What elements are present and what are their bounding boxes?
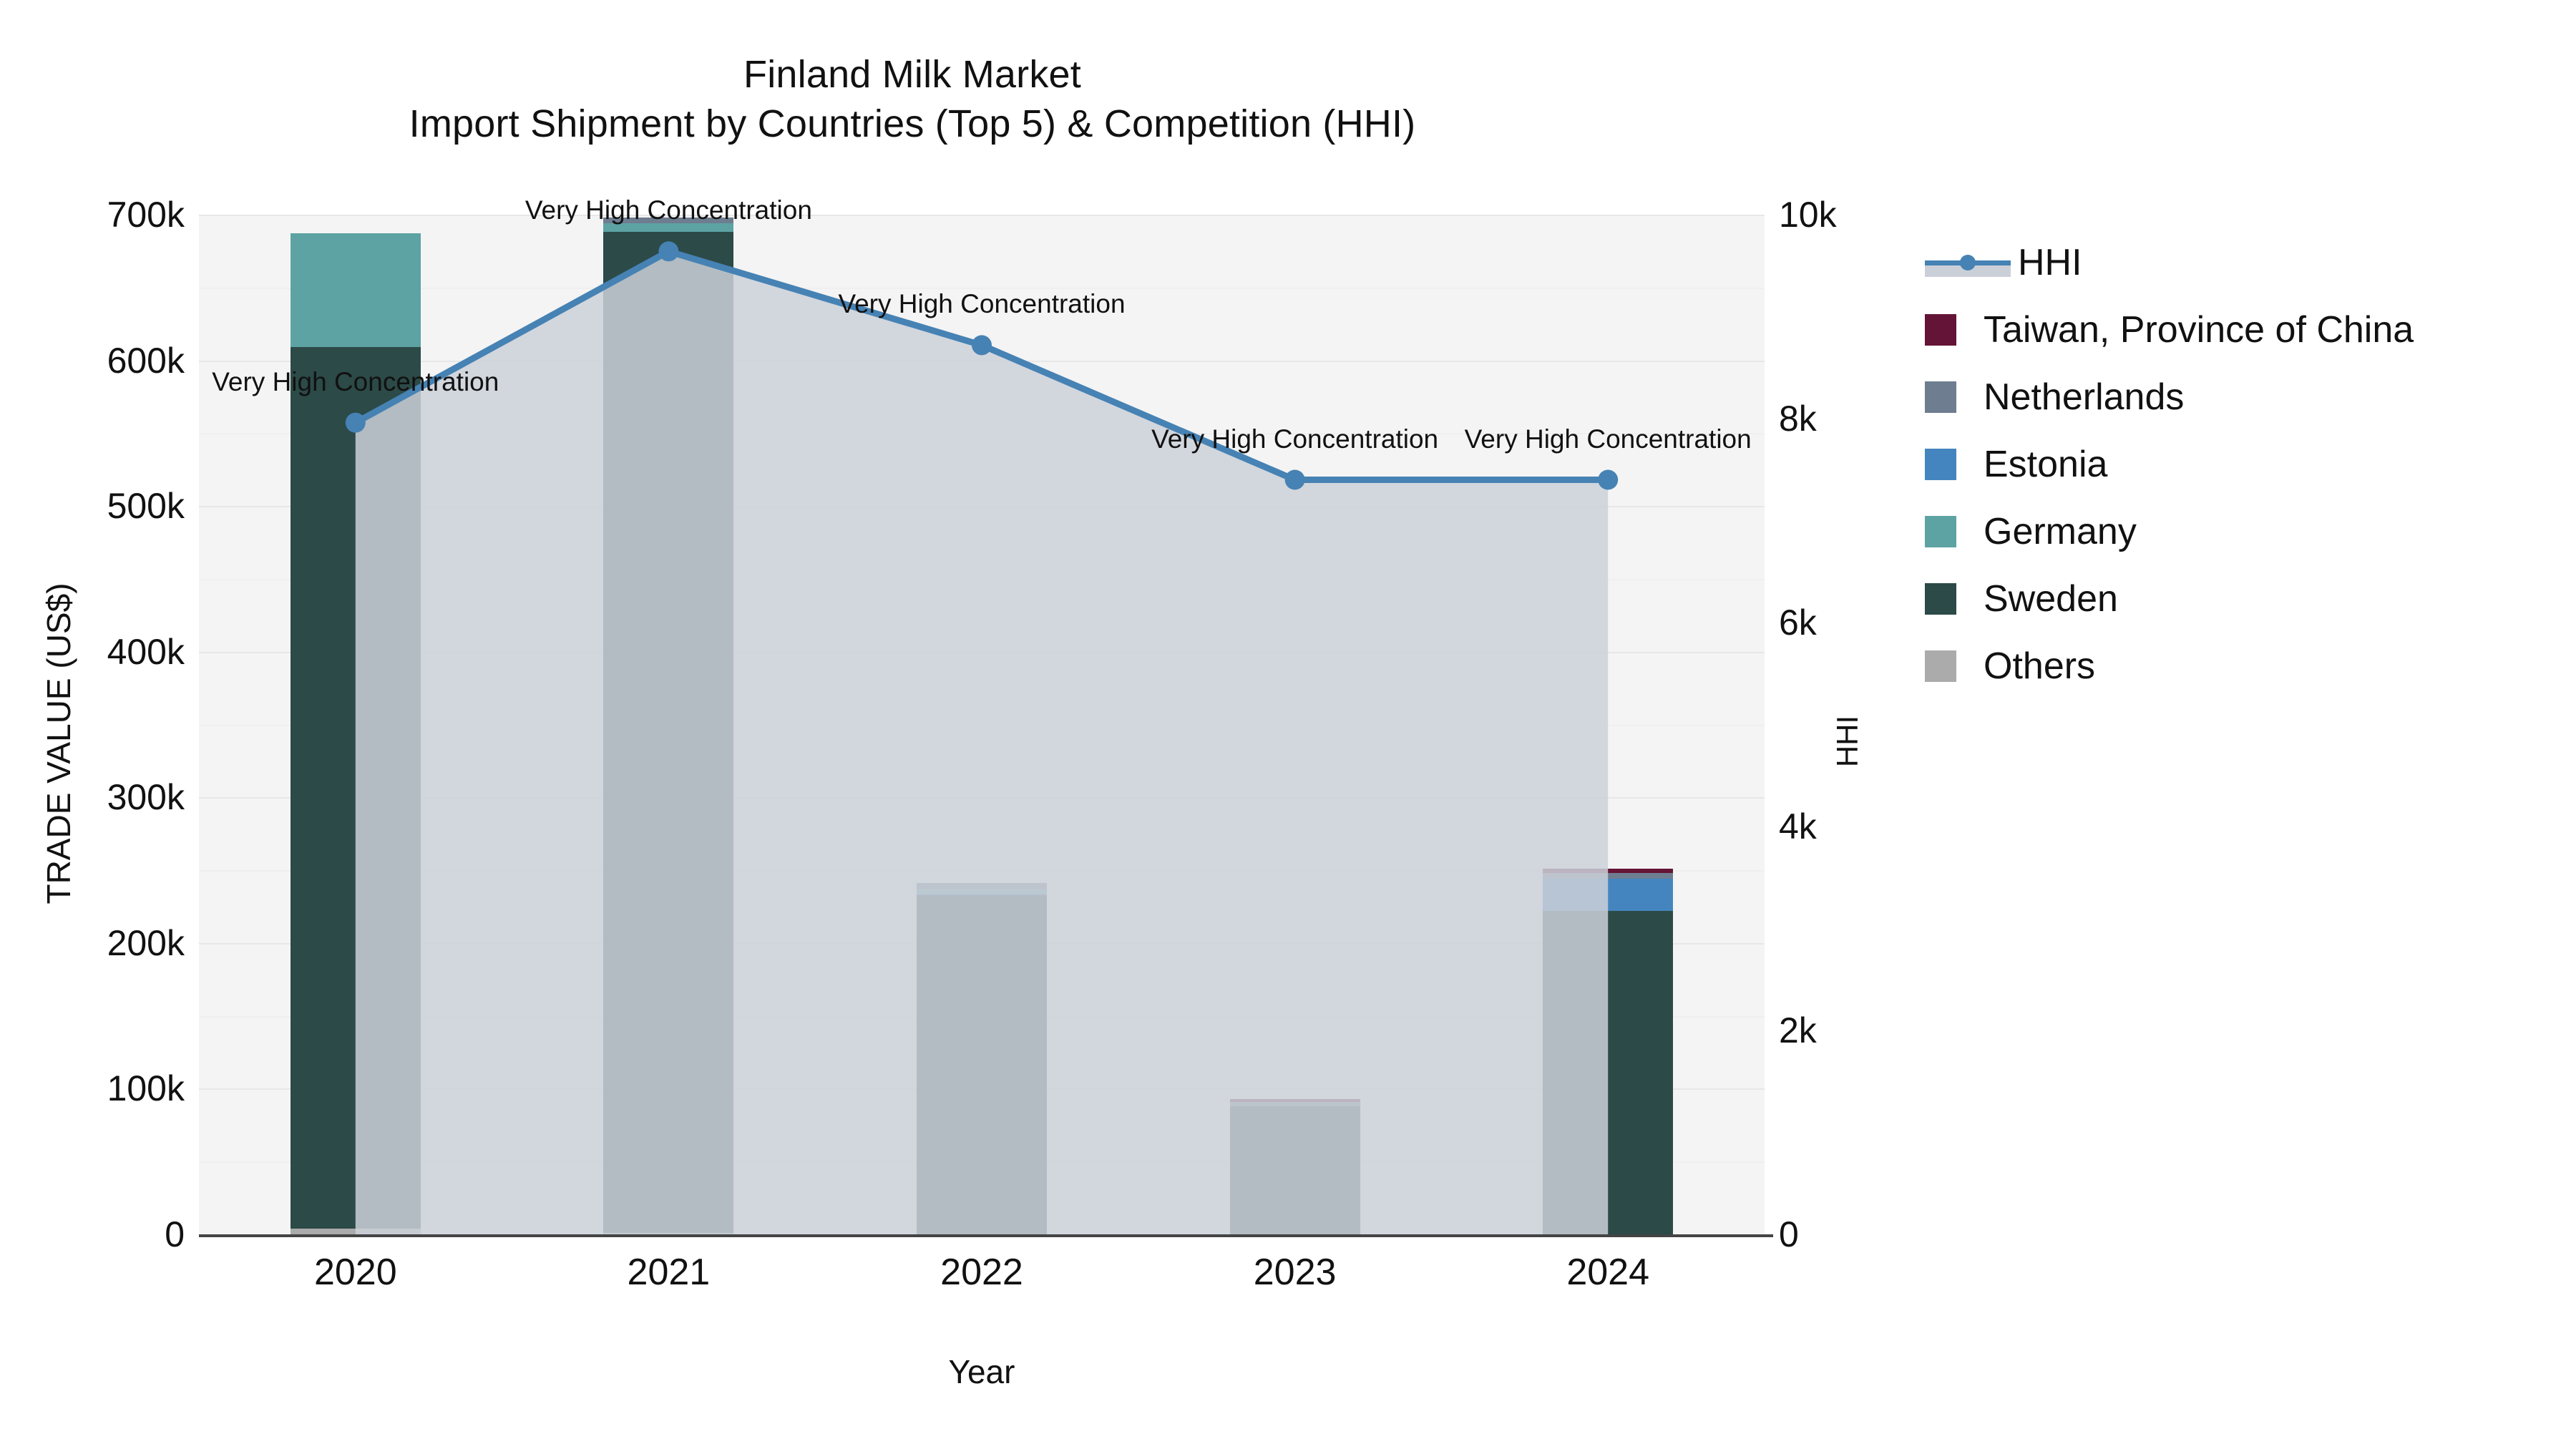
y-tick-right: 2k <box>1779 1010 1922 1051</box>
legend-line-swatch <box>1925 247 2011 278</box>
x-tick-2024: 2024 <box>1465 1251 1751 1294</box>
hhi-marker[interactable] <box>1598 470 1618 490</box>
legend-color-swatch <box>1925 314 1956 346</box>
hhi-annotation: Very High Concentration <box>525 195 812 225</box>
hhi-area-fill <box>356 251 1608 1234</box>
legend-color-swatch <box>1925 583 1956 615</box>
chart-title: Finland Milk Market Import Shipment by C… <box>0 50 1825 149</box>
legend-marker-dot <box>1960 255 1976 270</box>
x-tick-2020: 2020 <box>213 1251 499 1294</box>
title-line-1: Finland Milk Market <box>0 50 1825 99</box>
y-tick-right: 6k <box>1779 602 1922 643</box>
legend-color-swatch <box>1925 449 1956 480</box>
hhi-marker[interactable] <box>658 241 678 261</box>
y-tick-right: 0 <box>1779 1214 1922 1255</box>
legend-item-netherlands[interactable]: Netherlands <box>1925 364 2555 431</box>
y-tick-left: 300k <box>0 776 202 818</box>
y-tick-right: 4k <box>1779 806 1922 847</box>
legend-item-estonia[interactable]: Estonia <box>1925 431 2555 498</box>
legend-label: HHI <box>2018 241 2082 284</box>
legend-item-others[interactable]: Others <box>1925 633 2555 700</box>
legend-label: Others <box>1984 645 2095 688</box>
y-tick-left: 400k <box>0 631 202 673</box>
y-tick-right: 8k <box>1779 398 1922 439</box>
y-tick-left: 0 <box>0 1214 202 1255</box>
y-tick-left: 200k <box>0 922 202 964</box>
legend-label: Germany <box>1984 510 2137 553</box>
legend-label: Estonia <box>1984 443 2107 486</box>
legend-item-taiwan-province-of-china[interactable]: Taiwan, Province of China <box>1925 296 2555 364</box>
x-axis-title: Year <box>199 1352 1765 1391</box>
legend-item-hhi[interactable]: HHI <box>1925 229 2555 296</box>
hhi-annotation: Very High Concentration <box>1465 424 1752 454</box>
y-tick-right: 10k <box>1779 194 1922 235</box>
hhi-annotation: Very High Concentration <box>838 289 1125 319</box>
legend-color-swatch <box>1925 381 1956 413</box>
legend-item-sweden[interactable]: Sweden <box>1925 565 2555 633</box>
y-tick-left: 100k <box>0 1068 202 1109</box>
title-line-2: Import Shipment by Countries (Top 5) & C… <box>0 99 1825 149</box>
hhi-annotation: Very High Concentration <box>1151 424 1438 454</box>
y-axis-left-title: TRADE VALUE (US$) <box>39 493 78 994</box>
legend-color-swatch <box>1925 650 1956 682</box>
x-tick-2021: 2021 <box>525 1251 811 1294</box>
legend-label: Sweden <box>1984 577 2118 620</box>
hhi-marker[interactable] <box>346 413 366 433</box>
y-tick-left: 700k <box>0 194 202 235</box>
x-axis-spine <box>199 1234 1773 1237</box>
chart-figure: Finland Milk Market Import Shipment by C… <box>0 0 2576 1449</box>
legend-label: Netherlands <box>1984 376 2184 419</box>
hhi-annotation: Very High Concentration <box>212 367 499 397</box>
legend-label: Taiwan, Province of China <box>1984 308 2414 351</box>
hhi-marker[interactable] <box>972 335 992 355</box>
hhi-marker[interactable] <box>1285 470 1305 490</box>
legend-item-germany[interactable]: Germany <box>1925 498 2555 565</box>
x-tick-2023: 2023 <box>1152 1251 1438 1294</box>
chart-legend: HHITaiwan, Province of ChinaNetherlandsE… <box>1925 229 2555 700</box>
y-tick-left: 500k <box>0 485 202 527</box>
y-tick-left: 600k <box>0 340 202 381</box>
legend-color-swatch <box>1925 516 1956 547</box>
x-tick-2022: 2022 <box>839 1251 1125 1294</box>
